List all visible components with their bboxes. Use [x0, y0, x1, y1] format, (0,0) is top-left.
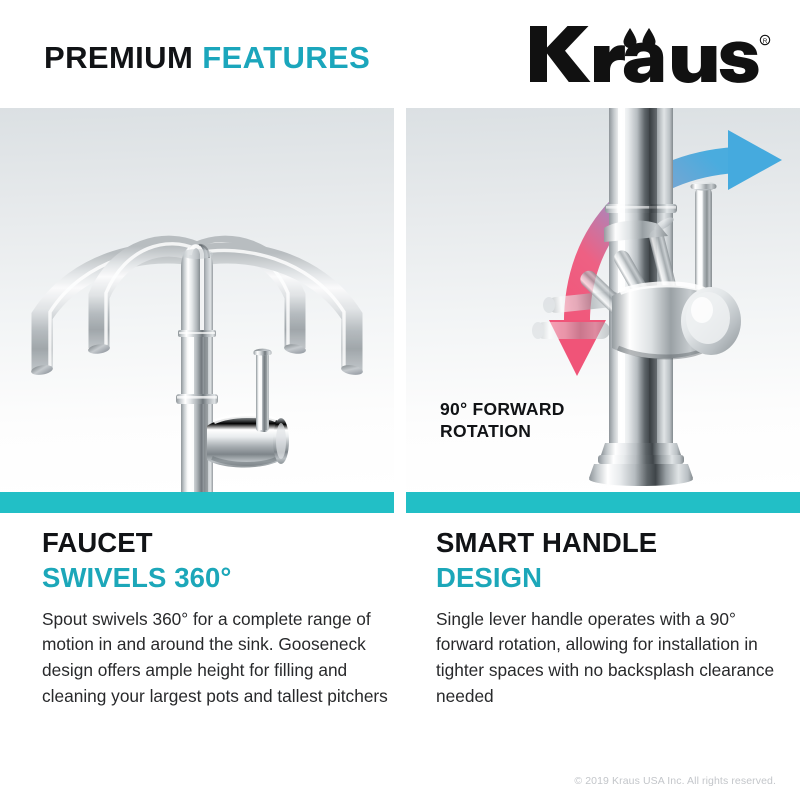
- feature-text-handle: SMART HANDLE DESIGN Single lever handle …: [436, 527, 800, 709]
- page-title: PREMIUM FEATURES: [44, 42, 370, 73]
- logo-wordmark: [530, 26, 759, 83]
- page-title-part-accent: FEATURES: [202, 40, 370, 75]
- page-header: PREMIUM FEATURES: [0, 0, 800, 108]
- faucet-main-spout: [181, 244, 213, 334]
- feature-panel-swivel: [0, 108, 394, 513]
- copyright-notice: © 2019 Kraus USA Inc. All rights reserve…: [574, 775, 776, 787]
- svg-text:R: R: [763, 38, 768, 45]
- feature-subtitle-swivel: SWIVELS 360°: [42, 562, 412, 594]
- feature-panels: 90° FORWARD ROTATION: [0, 108, 800, 513]
- feature-text-swivel: FAUCET SWIVELS 360° Spout swivels 360° f…: [42, 527, 412, 709]
- feature-body-handle: Single lever handle operates with a 90° …: [436, 607, 784, 709]
- faucet-lever-handle: [207, 349, 289, 468]
- page-title-part-primary: PREMIUM: [44, 40, 202, 75]
- handle-upright-lever: [691, 181, 717, 296]
- panel-divider-bar-right: [406, 492, 800, 513]
- feature-title-handle: SMART HANDLE: [436, 527, 800, 559]
- registered-trademark-icon: R: [760, 35, 769, 45]
- panel-divider-bar-left: [0, 492, 394, 513]
- faucet-handle-illustration: 90° FORWARD ROTATION: [406, 108, 800, 492]
- feature-panel-handle: 90° FORWARD ROTATION: [406, 108, 800, 513]
- feature-subtitle-handle: DESIGN: [436, 562, 800, 594]
- faucet-swivel-illustration: [0, 108, 394, 492]
- feature-text-columns: FAUCET SWIVELS 360° Spout swivels 360° f…: [0, 527, 800, 757]
- kraus-logo: R: [522, 18, 772, 88]
- rotation-label: 90° FORWARD ROTATION: [440, 398, 565, 443]
- feature-body-swivel: Spout swivels 360° for a complete range …: [42, 607, 390, 709]
- feature-title-swivel: FAUCET: [42, 527, 412, 559]
